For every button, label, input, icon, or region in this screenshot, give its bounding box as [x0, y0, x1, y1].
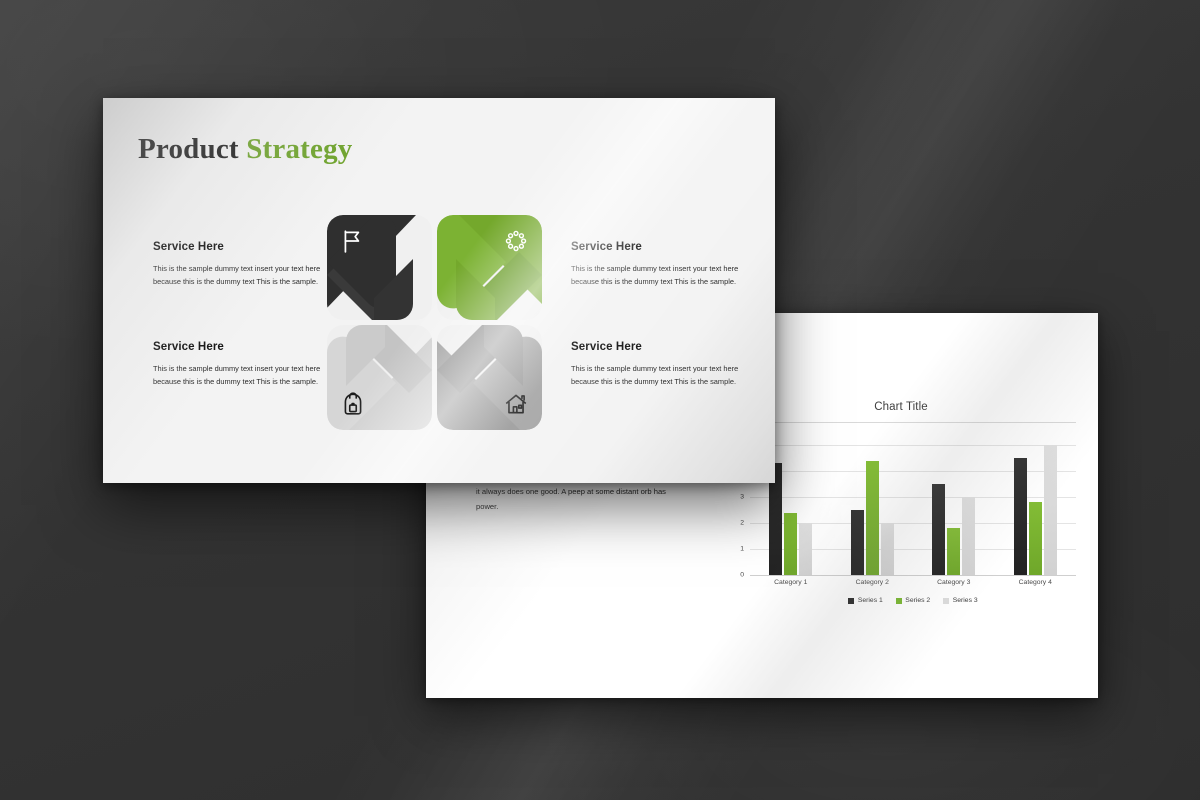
legend-label: Series 2 — [905, 597, 930, 604]
service-heading: Service Here — [153, 341, 328, 353]
x-axis-label: Category 4 — [995, 579, 1077, 586]
legend-label: Series 3 — [953, 597, 978, 604]
page-title-accent: Strategy — [246, 133, 352, 165]
bar-group — [913, 445, 995, 575]
bar-chart[interactable]: Chart Title 01234 Category 1Category 2Ca… — [726, 401, 1076, 641]
service-block-bottom-left: Service Here This is the sample dummy te… — [153, 341, 328, 388]
page-title: Product Strategy — [138, 133, 353, 166]
service-block-bottom-right: Service Here This is the sample dummy te… — [571, 341, 746, 388]
y-axis-tick: 0 — [740, 572, 744, 579]
tile-home[interactable] — [437, 325, 542, 430]
bar-3[interactable] — [962, 497, 975, 575]
legend-item[interactable]: Series 1 — [848, 597, 882, 604]
home-icon — [503, 391, 529, 417]
bar-3[interactable] — [799, 523, 812, 575]
service-heading: Service Here — [153, 241, 328, 253]
flag-icon — [340, 228, 366, 254]
bar-3[interactable] — [881, 523, 894, 575]
bar-1[interactable] — [1014, 458, 1027, 575]
legend-swatch — [896, 598, 902, 604]
legend-label: Series 1 — [858, 597, 883, 604]
service-body: This is the sample dummy text insert you… — [571, 262, 746, 288]
legend-item[interactable]: Series 3 — [943, 597, 977, 604]
chart-title: Chart Title — [726, 401, 1076, 413]
x-axis-labels: Category 1Category 2Category 3Category 4 — [750, 579, 1076, 586]
bar-2[interactable] — [784, 513, 797, 575]
chart-legend: Series 1Series 2Series 3 — [750, 597, 1076, 604]
bar-group — [995, 445, 1077, 575]
icon-cluster-graphic — [327, 215, 542, 430]
dots-circle-icon — [503, 228, 529, 254]
service-body: This is the sample dummy text insert you… — [153, 362, 328, 388]
legend-swatch — [943, 598, 949, 604]
service-heading: Service Here — [571, 241, 746, 253]
bar-3[interactable] — [1044, 445, 1057, 575]
service-body: This is the sample dummy text insert you… — [153, 262, 328, 288]
page-title-main: Product — [138, 133, 239, 165]
y-axis-tick: 3 — [740, 494, 744, 501]
tile-backpack[interactable] — [327, 325, 432, 430]
y-axis-tick: 1 — [740, 546, 744, 553]
x-axis-label: Category 2 — [832, 579, 914, 586]
bar-2[interactable] — [1029, 502, 1042, 575]
legend-swatch — [848, 598, 854, 604]
service-block-top-right: Service Here This is the sample dummy te… — [571, 241, 746, 288]
service-body: This is the sample dummy text insert you… — [571, 362, 746, 388]
gridline — [750, 575, 1076, 576]
service-block-top-left: Service Here This is the sample dummy te… — [153, 241, 328, 288]
slide-product-strategy[interactable]: Product Strategy Service Here This is th… — [103, 98, 775, 483]
tile-dots[interactable] — [437, 215, 542, 320]
y-axis-tick: 2 — [740, 520, 744, 527]
tile-flag[interactable] — [327, 215, 432, 320]
chart-title-divider — [726, 422, 1076, 423]
x-axis-label: Category 1 — [750, 579, 832, 586]
bar-group — [832, 445, 914, 575]
chart-plot-area: 01234 Category 1Category 2Category 3Cate… — [726, 445, 1076, 599]
service-heading: Service Here — [571, 341, 746, 353]
backpack-icon — [340, 391, 366, 417]
bar-1[interactable] — [932, 484, 945, 575]
bar-1[interactable] — [851, 510, 864, 575]
back-slide-paragraph-2: it always does one good. A peep at some … — [476, 485, 686, 515]
legend-item[interactable]: Series 2 — [896, 597, 930, 604]
x-axis-label: Category 3 — [913, 579, 995, 586]
chart-bars — [750, 445, 1076, 575]
bar-2[interactable] — [947, 528, 960, 575]
bar-2[interactable] — [866, 461, 879, 575]
